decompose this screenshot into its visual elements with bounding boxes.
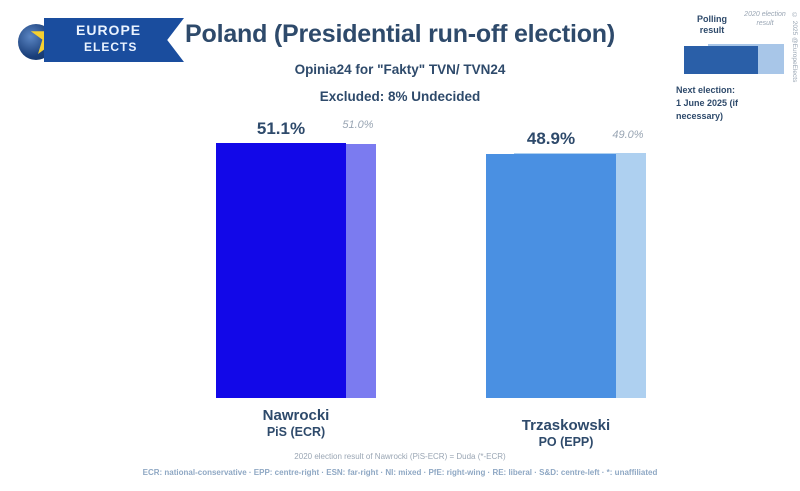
- next-election-date: 1 June 2025 (if necessary): [676, 97, 786, 123]
- bar-stack-nawrocki: [216, 143, 376, 398]
- bar-polling-trzaskowski[interactable]: [486, 154, 616, 398]
- bar-value-row-trzaskowski: 48.9% 49.0%: [486, 129, 646, 151]
- pollster-subtitle: Opinia24 for "Fakty" TVN/ TVN24: [0, 62, 800, 77]
- bar-group-nawrocki[interactable]: 51.1% 51.0% Nawrocki PiS (ECR): [216, 143, 376, 398]
- legend-label-polling: Polling result: [684, 14, 740, 37]
- bar-poll-value-trzaskowski: 48.9%: [486, 129, 616, 149]
- bar-poll-value-nawrocki: 51.1%: [216, 119, 346, 139]
- chart-legend: Polling result 2020 election result: [684, 10, 786, 74]
- candidate-party-nawrocki: PiS (ECR): [206, 425, 386, 441]
- legend-swatch-polling: [684, 46, 758, 74]
- next-election-info: Next election: 1 June 2025 (if necessary…: [676, 84, 786, 123]
- candidate-label-trzaskowski: Trzaskowski PO (EPP): [476, 417, 656, 451]
- bar-prev-value-nawrocki: 51.0%: [328, 119, 388, 131]
- next-election-label: Next election:: [676, 84, 786, 97]
- footer-party-legend: ECR: national-conservative · EPP: centre…: [0, 468, 800, 477]
- footer-note: 2020 election result of Nawrocki (PiS-EC…: [0, 452, 800, 461]
- candidate-label-nawrocki: Nawrocki PiS (ECR): [206, 407, 386, 441]
- copyright-text: © 2025 @EuropeElects: [791, 12, 798, 82]
- page-title: Poland (Presidential run-off election): [0, 20, 800, 49]
- candidate-name-nawrocki: Nawrocki: [206, 407, 386, 425]
- bar-prev-value-trzaskowski: 49.0%: [598, 129, 658, 141]
- candidate-party-trzaskowski: PO (EPP): [476, 435, 656, 451]
- legend-label-previous: 2020 election result: [744, 10, 786, 28]
- bar-value-row-nawrocki: 51.1% 51.0%: [216, 119, 376, 141]
- bar-group-trzaskowski[interactable]: 48.9% 49.0% Trzaskowski PO (EPP): [486, 153, 646, 398]
- legend-swatches: [684, 44, 784, 74]
- legend-labels: Polling result 2020 election result: [684, 10, 786, 44]
- bar-polling-nawrocki[interactable]: [216, 143, 346, 398]
- candidate-name-trzaskowski: Trzaskowski: [476, 417, 656, 435]
- bar-stack-trzaskowski: [486, 153, 646, 398]
